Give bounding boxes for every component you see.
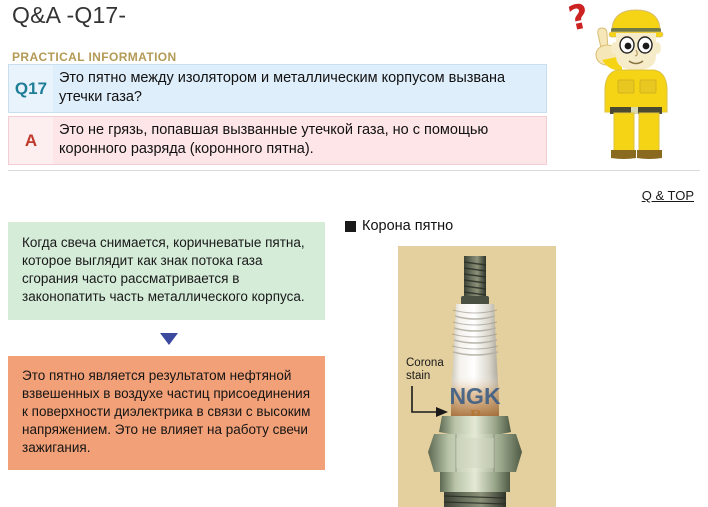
orange-info-panel: Это пятно является результатом нефтяной … [8,356,325,470]
worker-mascot-illustration: ? [566,0,688,160]
q-and-top-link[interactable]: Q & TOP [642,188,694,203]
corona-stain-callout-line1: Corona [406,357,444,369]
figure-heading-label: Корона пятно [362,218,453,234]
answer-badge: A [9,117,53,164]
green-info-panel: Когда свеча снимается, коричневатые пятн… [8,222,325,320]
question-mark-icon: ? [566,0,593,40]
down-arrow-icon [160,333,178,345]
page-title: Q&A -Q17- [12,2,126,29]
qa-question-row: Q17 Это пятно между изолятором и металли… [8,64,547,113]
corona-stain-callout-line2: stain [406,370,430,382]
question-text: Это пятно между изолятором и металлическ… [53,65,546,112]
answer-text: Это не грязь, попавшая вызванные утечкой… [53,117,546,164]
qa-block: Q17 Это пятно между изолятором и металли… [8,64,547,165]
qa-answer-row: A Это не грязь, попавшая вызванные утечк… [8,116,547,165]
horizontal-divider [8,170,700,171]
question-badge: Q17 [9,65,53,112]
figure-heading: Корона пятно [345,218,453,234]
svg-text:?: ? [566,0,593,40]
practical-information-label: PRACTICAL INFORMATION [12,50,177,64]
square-bullet-icon [345,221,356,232]
spark-plug-photo: NGK R Corona stain [398,246,556,507]
